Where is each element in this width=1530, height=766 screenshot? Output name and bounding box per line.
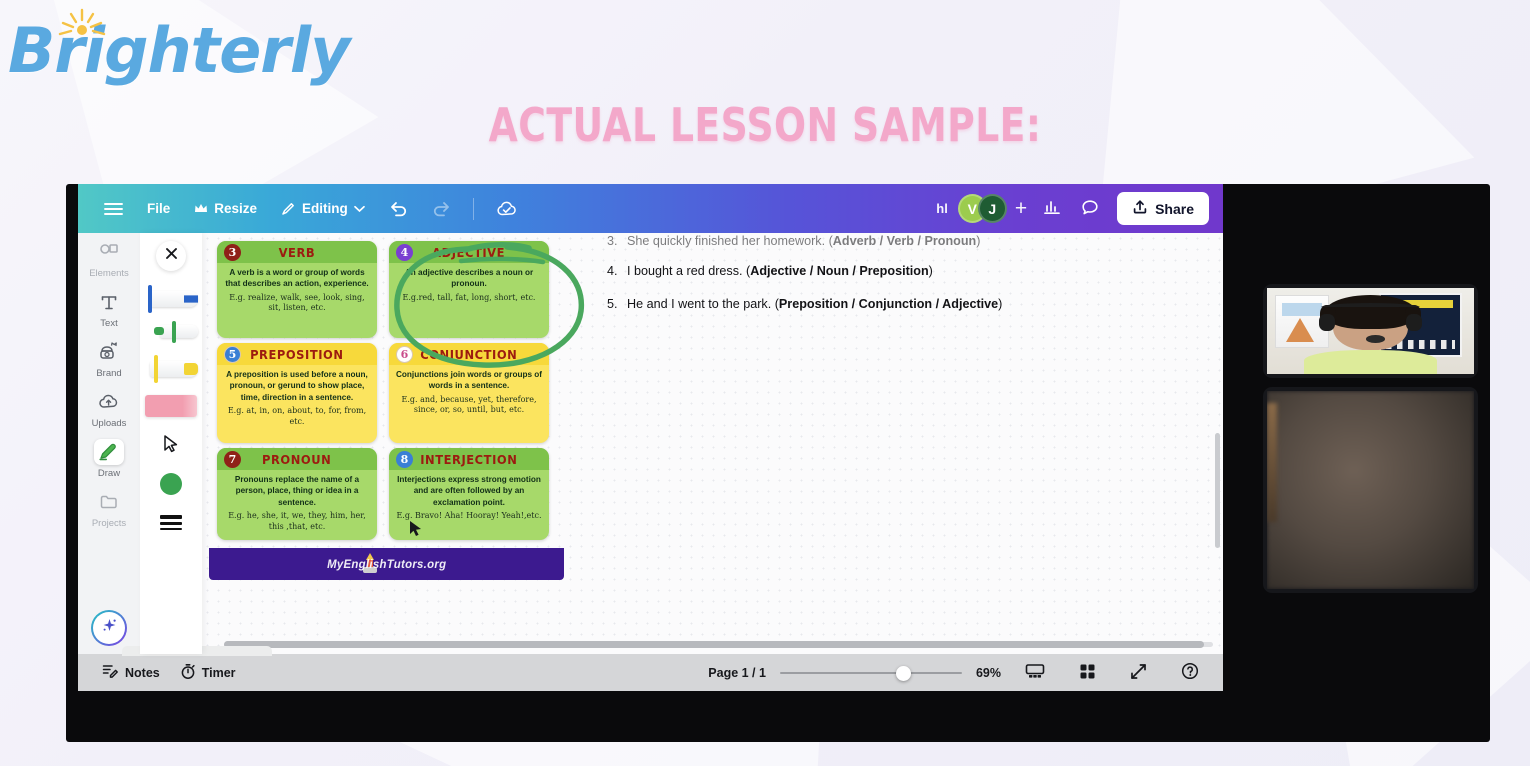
card-example: E.g. he, she, it, we, they, him, her, th… bbox=[223, 511, 371, 533]
card-number: 5 bbox=[224, 346, 241, 363]
card-title: INTERJECTION bbox=[420, 452, 517, 467]
color-swatch-button[interactable] bbox=[153, 467, 189, 501]
brand-crown-icon bbox=[94, 339, 124, 365]
add-member-button[interactable]: + bbox=[1015, 197, 1027, 221]
student-video-tile[interactable] bbox=[1263, 387, 1478, 593]
quiz-close: ) bbox=[998, 297, 1002, 311]
sidebar-item-uploads[interactable]: Uploads bbox=[81, 385, 137, 433]
quiz-close: ) bbox=[929, 264, 933, 278]
draw-cursor-icon bbox=[409, 520, 423, 538]
card-title: PRONOUN bbox=[262, 452, 331, 467]
page-title: ACTUAL LESSON SAMPLE: bbox=[138, 98, 1393, 152]
stopwatch-icon bbox=[180, 663, 196, 683]
quiz-text: She quickly finished her homework. ( bbox=[627, 234, 833, 248]
grammar-poster-image[interactable]: 3 VERB A verb is a word or group of word… bbox=[209, 235, 564, 580]
card-title: PREPOSITION bbox=[250, 347, 344, 362]
zoom-controls: Page 1 / 1 69% bbox=[708, 657, 1209, 688]
poster-footer: MyEnglishTutors.org bbox=[209, 548, 564, 580]
card-desc: A verb is a word or group of words that … bbox=[223, 267, 371, 290]
card-number: 3 bbox=[224, 244, 241, 261]
zoom-percent: 69% bbox=[976, 666, 1001, 680]
close-draw-panel-button[interactable] bbox=[156, 241, 186, 271]
quiz-choices: Adverb / Verb / Pronoun bbox=[833, 234, 976, 248]
draw-tool-panel bbox=[140, 233, 202, 654]
notes-button[interactable]: Notes bbox=[92, 658, 170, 687]
notes-label: Notes bbox=[125, 666, 160, 680]
highlighter-tool[interactable] bbox=[142, 349, 200, 389]
card-number: 7 bbox=[224, 451, 241, 468]
quiz-number: 3. bbox=[607, 233, 620, 249]
hamburger-menu-icon bbox=[104, 202, 123, 216]
quiz-close: ) bbox=[976, 234, 980, 248]
quiz-number: 5. bbox=[607, 296, 620, 312]
canvas-area[interactable]: 3 VERB A verb is a word or group of word… bbox=[202, 233, 1223, 654]
video-tiles bbox=[1263, 284, 1478, 593]
card-desc: Conjunctions join words or groups of wor… bbox=[395, 369, 543, 392]
canva-app: File Resize Editing bbox=[78, 184, 1223, 691]
editing-label: Editing bbox=[302, 201, 348, 216]
avatar-j[interactable]: J bbox=[978, 194, 1007, 223]
sunburst-icon bbox=[58, 8, 106, 42]
canva-toolbar: File Resize Editing bbox=[78, 184, 1223, 233]
timer-label: Timer bbox=[202, 666, 236, 680]
sidebar-item-brand[interactable]: Brand bbox=[81, 335, 137, 383]
canvas-vertical-scrollbar[interactable] bbox=[1215, 433, 1220, 548]
sidebar-label-text: Text bbox=[100, 318, 117, 329]
bar-chart-icon bbox=[1044, 199, 1061, 218]
uploads-cloud-icon bbox=[94, 389, 124, 415]
help-button[interactable] bbox=[1171, 657, 1209, 688]
insights-button[interactable] bbox=[1035, 194, 1069, 224]
canvas-horizontal-scrollbar[interactable] bbox=[202, 640, 1223, 648]
sidebar-label-draw: Draw bbox=[98, 468, 120, 479]
sidebar-label-elements: Elements bbox=[89, 268, 129, 279]
card-title: CONJUNCTION bbox=[420, 347, 517, 362]
grammar-card-conjunction: 6 CONJUNCTION Conjunctions join words or… bbox=[389, 343, 549, 443]
toolbar-divider bbox=[473, 198, 474, 220]
teacher-video-tile[interactable] bbox=[1263, 284, 1478, 378]
sidebar-label-uploads: Uploads bbox=[92, 418, 127, 429]
draw-color-swatch bbox=[160, 473, 182, 495]
magic-sparkle-icon bbox=[100, 616, 119, 640]
pen-tool[interactable] bbox=[142, 279, 200, 319]
sidebar-label-brand: Brand bbox=[96, 368, 121, 379]
grammar-card-adjective: 4 ADJECTIVE An adjective describes a nou… bbox=[389, 241, 549, 338]
card-desc: Interjections express strong emotion and… bbox=[395, 474, 543, 508]
poster-footer-text: MyEnglishTutors.org bbox=[327, 557, 446, 571]
card-example: E.g.red, tall, fat, long, short, etc. bbox=[395, 293, 543, 304]
sidebar-item-elements[interactable]: Elements bbox=[81, 235, 137, 283]
quiz-item-3: 3. She quickly finished her homework. (A… bbox=[607, 233, 1127, 249]
grid-view-button[interactable] bbox=[1069, 658, 1106, 688]
present-button[interactable] bbox=[1015, 658, 1055, 687]
card-example: E.g. realize, walk, see, look, sing, sit… bbox=[223, 293, 371, 315]
quiz-choices: Adjective / Noun / Preposition bbox=[750, 264, 928, 278]
card-title: ADJECTIVE bbox=[433, 245, 506, 260]
quiz-text: I bought a red dress. ( bbox=[627, 264, 750, 278]
sidebar-item-text[interactable]: Text bbox=[81, 285, 137, 333]
crown-icon bbox=[194, 203, 208, 214]
cloud-saved-button[interactable] bbox=[484, 195, 530, 223]
pencil-icon bbox=[281, 201, 296, 216]
magic-sparkle-button[interactable] bbox=[91, 610, 127, 646]
card-number: 8 bbox=[396, 451, 413, 468]
card-desc: Pronouns replace the name of a person, p… bbox=[223, 474, 371, 508]
screen-share-window: File Resize Editing bbox=[66, 184, 1490, 742]
sidebar-item-projects[interactable]: Projects bbox=[81, 485, 137, 533]
collaborator-avatars: V J bbox=[958, 194, 1007, 223]
quiz-item-4: 4. I bought a red dress. (Adjective / No… bbox=[607, 263, 1127, 279]
page-indicator: Page 1 / 1 bbox=[708, 666, 766, 680]
zoom-slider[interactable] bbox=[780, 666, 962, 680]
share-button[interactable]: Share bbox=[1117, 192, 1209, 225]
card-example: E.g. and, because, yet, therefore, since… bbox=[395, 395, 543, 417]
upload-icon bbox=[1132, 199, 1148, 218]
editing-mode-button[interactable]: Editing bbox=[269, 195, 377, 222]
share-label: Share bbox=[1155, 201, 1194, 217]
card-desc: A preposition is used before a noun, pro… bbox=[223, 369, 371, 403]
chevron-down-icon bbox=[354, 205, 365, 213]
quiz-number: 4. bbox=[607, 263, 620, 279]
fullscreen-button[interactable] bbox=[1120, 658, 1157, 688]
redo-arrow-icon bbox=[432, 201, 451, 217]
canva-bottom-bar: Notes Timer Page 1 / 1 69% bbox=[78, 654, 1223, 691]
undo-button[interactable] bbox=[377, 195, 420, 223]
card-example: E.g. at, in, on, about, to, for, from, e… bbox=[223, 406, 371, 428]
projects-folder-icon bbox=[94, 489, 124, 515]
card-number: 4 bbox=[396, 244, 413, 261]
cloud-saved-icon bbox=[496, 201, 518, 217]
undo-arrow-icon bbox=[389, 201, 408, 217]
quiz-question-list: 3. She quickly finished her homework. (A… bbox=[607, 233, 1127, 328]
grammar-card-preposition: 5 PREPOSITION A preposition is used befo… bbox=[217, 343, 377, 443]
cursor-arrow-icon bbox=[162, 434, 180, 459]
timer-button[interactable]: Timer bbox=[170, 658, 246, 688]
fullscreen-icon bbox=[1130, 663, 1147, 683]
resize-label: Resize bbox=[214, 201, 257, 216]
stroke-thickness-icon bbox=[160, 515, 182, 530]
brighterly-logo: Brighterly bbox=[8, 6, 278, 96]
sidebar-label-projects: Projects bbox=[92, 518, 126, 529]
marker-tool[interactable] bbox=[142, 319, 200, 349]
eraser-tool[interactable] bbox=[145, 395, 197, 417]
design-page: 3 VERB A verb is a word or group of word… bbox=[202, 233, 1223, 632]
resize-button[interactable]: Resize bbox=[182, 195, 269, 222]
text-icon bbox=[94, 289, 124, 315]
quiz-item-5: 5. He and I went to the park. (Prepositi… bbox=[607, 296, 1127, 312]
comment-bubble-icon bbox=[1081, 199, 1099, 219]
presentation-icon bbox=[1025, 663, 1045, 682]
close-x-icon bbox=[165, 247, 178, 265]
card-title: VERB bbox=[279, 245, 316, 260]
cursor-arrow-tool[interactable] bbox=[153, 429, 189, 463]
canva-sidebar: Elements Text Brand bbox=[78, 233, 140, 654]
stroke-thickness-button[interactable] bbox=[153, 505, 189, 539]
grammar-card-pronoun: 7 PRONOUN Pronouns replace the name of a… bbox=[217, 448, 377, 540]
quiz-text: He and I went to the park. ( bbox=[627, 297, 779, 311]
redo-button[interactable] bbox=[420, 195, 463, 223]
presence-label: hl bbox=[936, 201, 948, 216]
notes-icon bbox=[102, 663, 119, 682]
draw-pen-icon bbox=[94, 439, 124, 465]
brand-name: Brighterly bbox=[8, 6, 278, 96]
card-number: 6 bbox=[396, 346, 413, 363]
card-desc: An adjective describes a noun or pronoun… bbox=[395, 267, 543, 290]
hamburger-menu-button[interactable] bbox=[92, 196, 135, 222]
quiz-choices: Preposition / Conjunction / Adjective bbox=[779, 297, 998, 311]
file-menu-button[interactable]: File bbox=[135, 195, 182, 222]
zoom-slider-knob[interactable] bbox=[896, 666, 911, 681]
grid-view-icon bbox=[1079, 663, 1096, 683]
file-label: File bbox=[147, 201, 170, 216]
comments-button[interactable] bbox=[1073, 194, 1107, 224]
sidebar-item-draw[interactable]: Draw bbox=[81, 435, 137, 483]
grammar-card-verb: 3 VERB A verb is a word or group of word… bbox=[217, 241, 377, 338]
help-question-icon bbox=[1181, 662, 1199, 683]
elements-icon bbox=[94, 239, 124, 265]
